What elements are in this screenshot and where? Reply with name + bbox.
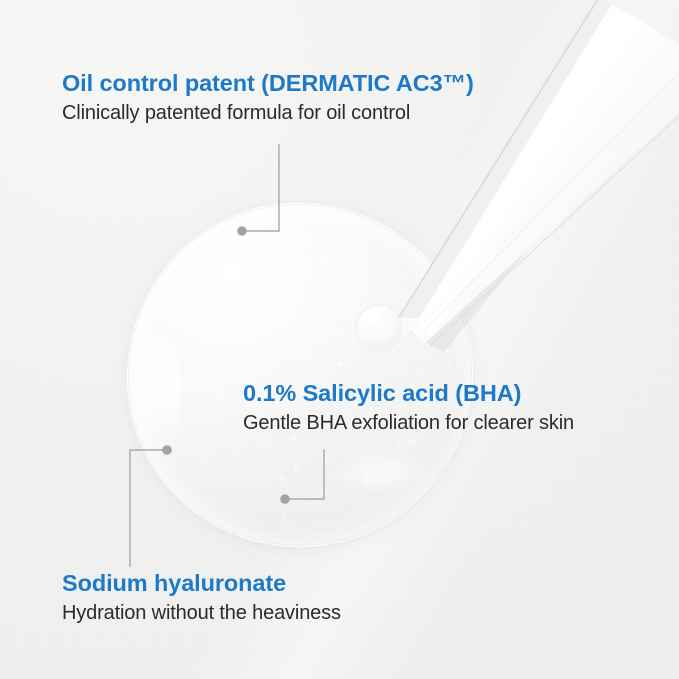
callout-sodium-hyaluronate: Sodium hyaluronate Hydration without the… <box>62 572 341 623</box>
callout-subtitle: Hydration without the heaviness <box>62 603 341 623</box>
callout-title: Sodium hyaluronate <box>62 572 341 596</box>
callout-title: 0.1% Salicylic acid (BHA) <box>243 382 574 406</box>
product-ingredient-infographic: Oil control patent (DERMATIC AC3™) Clini… <box>0 0 679 679</box>
callout-subtitle: Gentle BHA exfoliation for clearer skin <box>243 413 574 433</box>
leader-line-sodium-hyaluronate <box>130 445 172 566</box>
callout-oil-control-patent: Oil control patent (DERMATIC AC3™) Clini… <box>62 72 474 123</box>
leader-dot-salicylic-acid <box>280 494 290 504</box>
leader-dot-sodium-hyaluronate <box>162 445 172 455</box>
callout-salicylic-acid: 0.1% Salicylic acid (BHA) Gentle BHA exf… <box>243 382 574 433</box>
callout-subtitle: Clinically patented formula for oil cont… <box>62 103 474 123</box>
callout-title: Oil control patent (DERMATIC AC3™) <box>62 72 474 96</box>
leader-line-oil-control <box>237 145 279 236</box>
leader-line-salicylic-acid <box>280 450 324 504</box>
leader-dot-oil-control <box>237 226 247 236</box>
